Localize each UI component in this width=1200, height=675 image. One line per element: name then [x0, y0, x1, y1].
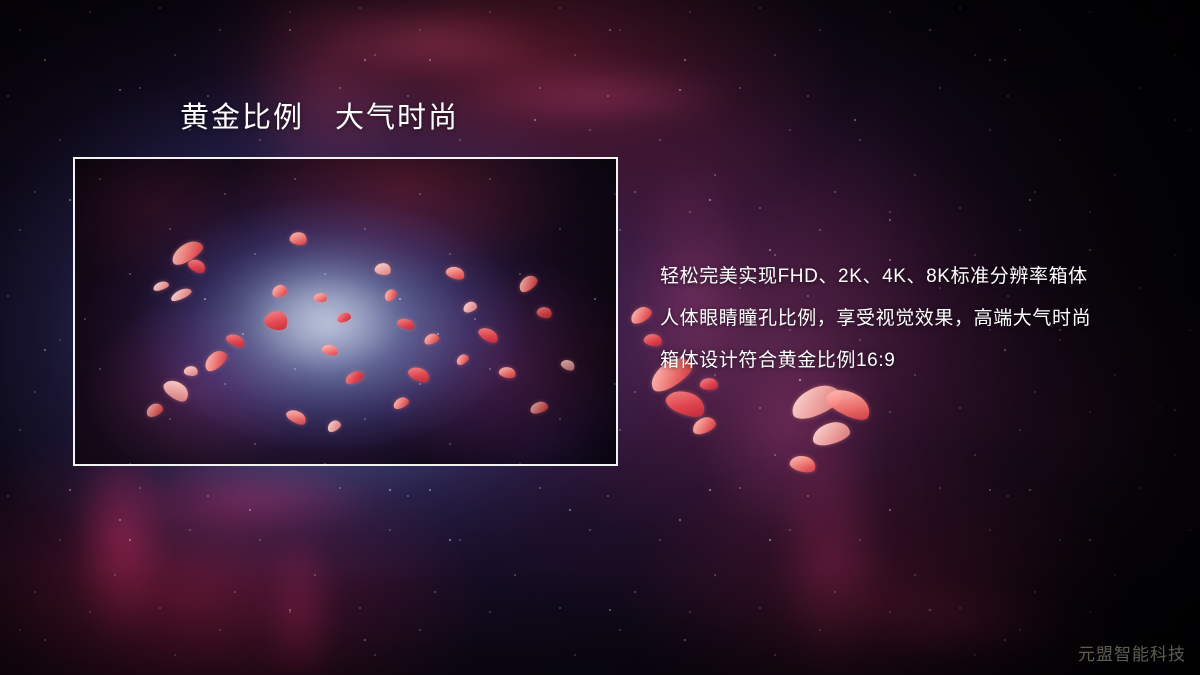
petal	[787, 380, 845, 423]
copy-line-2: 人体眼睛瞳孔比例，享受视觉效果，高端大气时尚	[660, 298, 1160, 340]
petal	[823, 382, 875, 426]
petal	[690, 415, 717, 437]
body-copy-block: 轻松完美实现FHD、2K、4K、8K标准分辨率箱体 人体眼睛瞳孔比例，享受视觉效…	[660, 256, 1160, 382]
petal	[628, 304, 654, 326]
copy-line-1: 轻松完美实现FHD、2K、4K、8K标准分辨率箱体	[660, 256, 1160, 298]
slide-canvas: 黄金比例 大气时尚 轻松完美实现FHD、2K、4K、8K标准分辨率箱体 人体眼睛…	[0, 0, 1200, 675]
copy-line-3: 箱体设计符合黄金比例16:9	[660, 340, 1160, 382]
display-panel-preview	[73, 157, 618, 466]
petal	[810, 419, 852, 447]
petal	[788, 452, 818, 475]
watermark: 元盟智能科技	[1078, 640, 1186, 665]
petal	[663, 385, 709, 423]
page-title: 黄金比例 大气时尚	[180, 101, 459, 136]
panel-vignette	[75, 159, 616, 464]
